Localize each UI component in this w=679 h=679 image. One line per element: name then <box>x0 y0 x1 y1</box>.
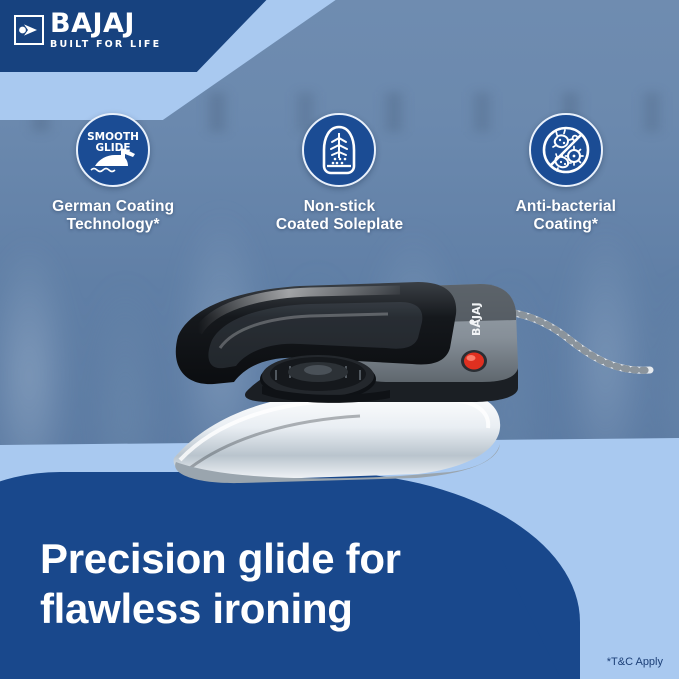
feature-label-line1: Anti-bacterial <box>516 198 616 215</box>
anti-bacterial-germ-block-icon <box>529 113 603 187</box>
headline-line1: Precision glide for <box>40 535 401 582</box>
page-title: Precision glide for flawless ironing <box>40 534 510 633</box>
brand-name: BAJAJ <box>50 10 135 37</box>
feature-label: Non-stick Coated Soleplate <box>276 198 403 235</box>
promo-banner: BAJAJ BUILT FOR LIFE SMOOTH GLIDE German… <box>0 0 679 679</box>
soleplate-vents-icon <box>302 113 376 187</box>
terms-disclaimer: *T&C Apply <box>607 656 663 668</box>
feature-label: German Coating Technology* <box>52 198 174 235</box>
feature-label-line1: Non-stick <box>304 198 376 215</box>
feature-list: SMOOTH GLIDE German Coating Technology* <box>0 113 679 235</box>
feature-label-line2: Coated Soleplate <box>276 216 403 233</box>
smooth-glide-iron-icon: SMOOTH GLIDE <box>76 113 150 187</box>
brand-logo: BAJAJ BUILT FOR LIFE <box>14 10 161 50</box>
feature-label: Anti-bacterial Coating* <box>516 198 616 235</box>
bajaj-arrow-logo-icon <box>14 15 44 45</box>
feature-label-line2: Technology* <box>67 216 160 233</box>
feature-label-line1: German Coating <box>52 198 174 215</box>
product-brand-mark: BAJAJ <box>470 302 483 336</box>
dry-iron-product-image: BAJAJ <box>150 262 679 522</box>
feature-anti-bacterial: Anti-bacterial Coating* <box>453 113 679 235</box>
headline-line2: flawless ironing <box>40 585 353 632</box>
feature-german-coating: SMOOTH GLIDE German Coating Technology* <box>0 113 226 235</box>
feature-non-stick-soleplate: Non-stick Coated Soleplate <box>226 113 452 235</box>
brand-tagline: BUILT FOR LIFE <box>50 40 161 50</box>
feature-label-line2: Coating* <box>534 216 599 233</box>
